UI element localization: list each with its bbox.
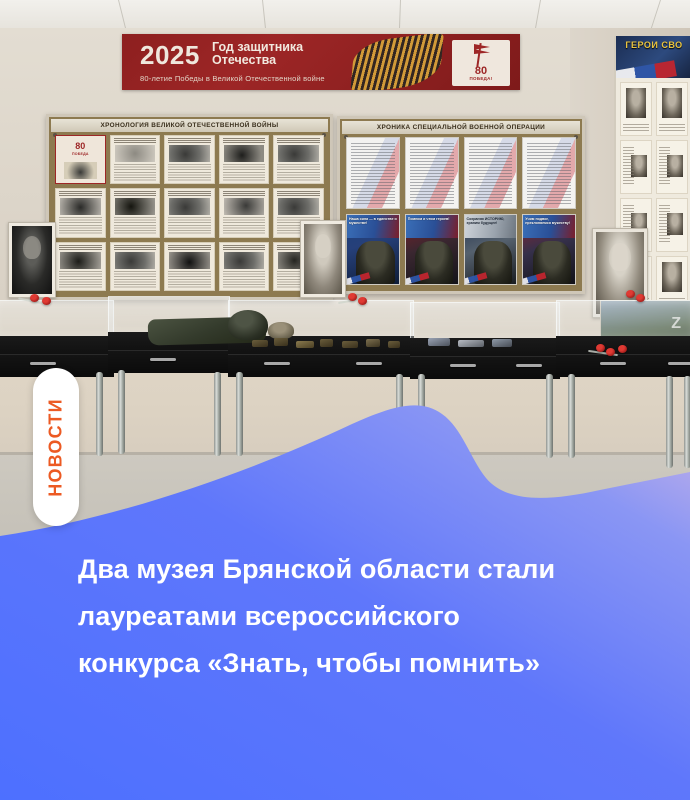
svo-document xyxy=(522,137,576,209)
carnation-flower xyxy=(30,294,39,302)
board-chronology-header: ХРОНОЛОГИЯ ВЕЛИКОЙ ОТЕЧЕСТВЕННОЙ ВОЙНЫ xyxy=(51,119,328,132)
chronology-card-victory: 80 ПОБЕДА xyxy=(55,135,106,184)
logo-caption: ПОБЕДА! xyxy=(452,76,510,81)
carnation-flower xyxy=(626,290,635,298)
carnation-flower xyxy=(636,294,645,302)
card-number: 80 xyxy=(56,141,105,151)
victory-80-logo: 80 ПОБЕДА! xyxy=(452,40,510,86)
svo-poster: Учим подвиг, преклоняемся мужеству! xyxy=(522,214,576,286)
chronology-sheet xyxy=(219,242,270,291)
hero-document-cell xyxy=(656,140,688,194)
chronology-sheet xyxy=(55,242,106,291)
carnation-flower xyxy=(596,344,605,352)
svo-poster: Наша сила — в единстве и мужестве! xyxy=(346,214,400,286)
svo-poster-caption: Помним и чтим героев! xyxy=(408,217,456,221)
board-svo-header: ХРОНИКА СПЕЦИАЛЬНОЙ ВОЕННОЙ ОПЕРАЦИИ xyxy=(342,121,580,134)
exhibit-helmet xyxy=(228,310,268,340)
exhibit-medal xyxy=(342,341,358,348)
banner-year: 2025 xyxy=(140,40,200,71)
chronology-sheet xyxy=(55,188,106,237)
headline: Два музея Брянской области стали лауреат… xyxy=(78,546,638,687)
chronology-sheet xyxy=(164,135,215,184)
portrait-sketch-framed xyxy=(300,220,346,298)
hero-document-cell xyxy=(656,198,688,252)
carnation-flower xyxy=(358,297,367,305)
banner-title: Год защитника Отечества xyxy=(212,41,362,67)
hero-document-cell xyxy=(620,140,652,194)
hero-portrait-cell xyxy=(656,82,688,136)
headline-line-1: Два музея Брянской области стали xyxy=(78,546,638,593)
heroes-banner: ГЕРОИ СВО xyxy=(616,36,690,78)
display-case xyxy=(0,300,114,376)
svo-document xyxy=(346,137,400,209)
st-george-ribbon-icon xyxy=(350,34,444,90)
card-caption: ПОБЕДА xyxy=(56,152,105,156)
board-chronology-title: ХРОНОЛОГИЯ ВЕЛИКОЙ ОТЕЧЕСТВЕННОЙ ВОЙНЫ xyxy=(101,122,279,129)
banner-subtitle: 80-летие Победы в Великой Отечественной … xyxy=(140,74,325,83)
chronology-sheet xyxy=(110,242,161,291)
exhibit-medal xyxy=(252,340,268,347)
headline-line-3: конкурса «Знать, чтобы помнить» xyxy=(78,640,638,687)
chronology-sheet xyxy=(164,188,215,237)
portrait-officer-framed xyxy=(8,222,56,298)
chronology-sheet xyxy=(164,242,215,291)
news-badge-label: НОВОСТИ xyxy=(46,398,67,496)
headline-line-2: лауреатами всероссийского xyxy=(78,593,638,640)
chronology-sheet-grid: 80 ПОБЕДА xyxy=(55,135,324,291)
hero-portrait-cell xyxy=(620,82,652,136)
svo-poster: Сохраняя ИСТОРИЮ, храним будущее! xyxy=(464,214,518,286)
exhibit-item xyxy=(428,338,450,346)
exhibit-medal xyxy=(274,338,288,346)
heroes-title: ГЕРОИ СВО xyxy=(616,40,690,51)
board-chronology: ХРОНОЛОГИЯ ВЕЛИКОЙ ОТЕЧЕСТВЕННОЙ ВОЙНЫ 8… xyxy=(46,114,333,300)
exhibit-cap xyxy=(268,322,294,339)
exhibit-item xyxy=(458,340,484,347)
exhibit-medal xyxy=(388,341,400,348)
news-card: 2025 Год защитника Отечества 80-летие По… xyxy=(0,0,690,800)
svo-poster: Помним и чтим героев! xyxy=(405,214,459,286)
chronology-sheet xyxy=(273,135,324,184)
svo-document xyxy=(405,137,459,209)
svo-poster-caption: Сохраняя ИСТОРИЮ, храним будущее! xyxy=(467,217,515,226)
exhibit-medal xyxy=(320,339,333,347)
svo-poster-grid: Наша сила — в единстве и мужестве! Помни… xyxy=(346,137,576,285)
year-banner: 2025 Год защитника Отечества 80-летие По… xyxy=(122,34,520,90)
chronology-sheet xyxy=(110,188,161,237)
display-case xyxy=(556,300,690,380)
svo-document xyxy=(464,137,518,209)
news-badge[interactable]: НОВОСТИ xyxy=(33,368,79,526)
svo-poster-caption: Наша сила — в единстве и мужестве! xyxy=(349,217,397,226)
carnation-flower xyxy=(42,297,51,305)
carnation-flower xyxy=(606,348,615,356)
flag-wing-icon xyxy=(616,60,678,78)
board-svo-title: ХРОНИКА СПЕЦИАЛЬНОЙ ВОЕННОЙ ОПЕРАЦИИ xyxy=(377,124,545,131)
exhibit-medal xyxy=(296,341,314,348)
exhibit-medal xyxy=(366,339,380,347)
exhibit-item xyxy=(492,339,512,347)
carnation-flower xyxy=(618,345,627,353)
ceiling xyxy=(0,0,690,30)
carnation-flower xyxy=(348,293,357,301)
board-svo: ХРОНИКА СПЕЦИАЛЬНОЙ ВОЕННОЙ ОПЕРАЦИИ Наш… xyxy=(337,116,585,294)
chronology-sheet xyxy=(110,135,161,184)
svo-poster-caption: Учим подвиг, преклоняемся мужеству! xyxy=(525,217,573,226)
chronology-sheet xyxy=(219,188,270,237)
chronology-sheet xyxy=(219,135,270,184)
